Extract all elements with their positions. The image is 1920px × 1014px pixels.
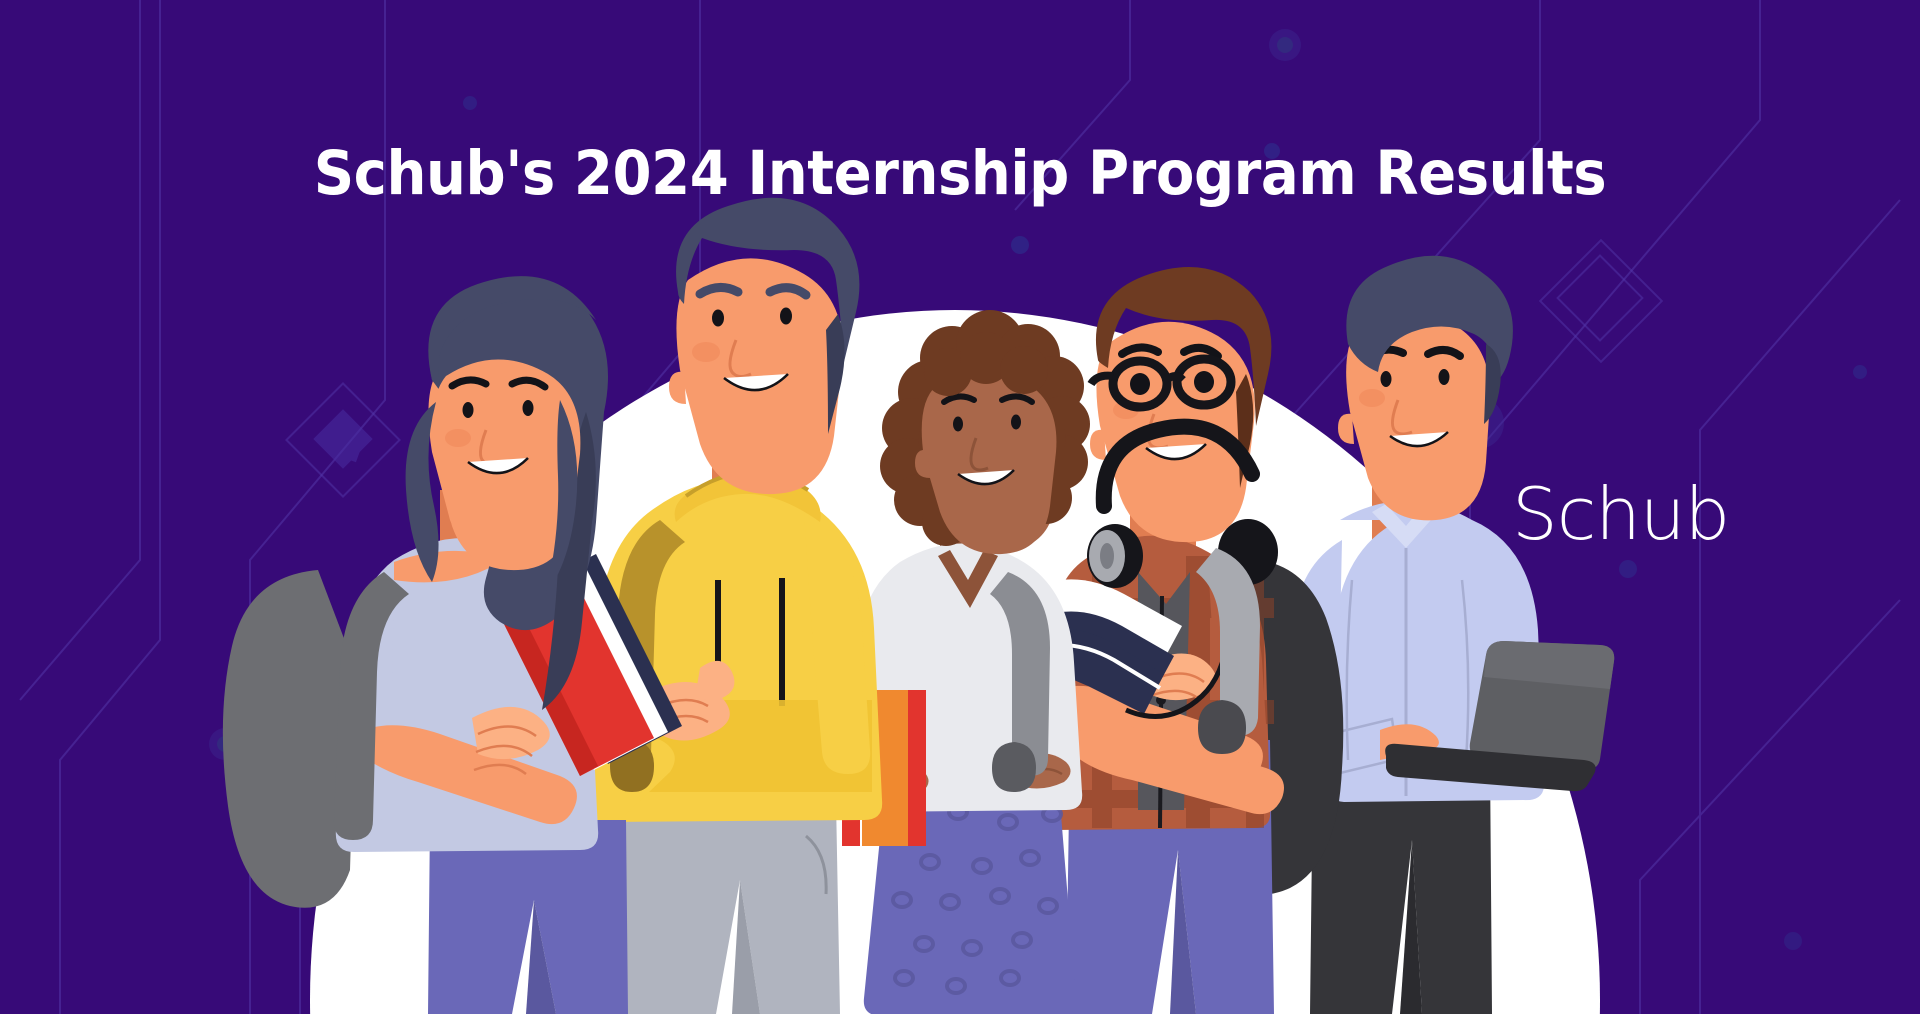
student-2 [584, 198, 882, 1014]
page-title: Schub's 2024 Internship Program Results [77, 142, 1843, 206]
student-1 [223, 276, 682, 1014]
brand-logo: Schub [1512, 478, 1729, 550]
banner-root: Schub's 2024 Internship Program Results … [0, 0, 1920, 1014]
